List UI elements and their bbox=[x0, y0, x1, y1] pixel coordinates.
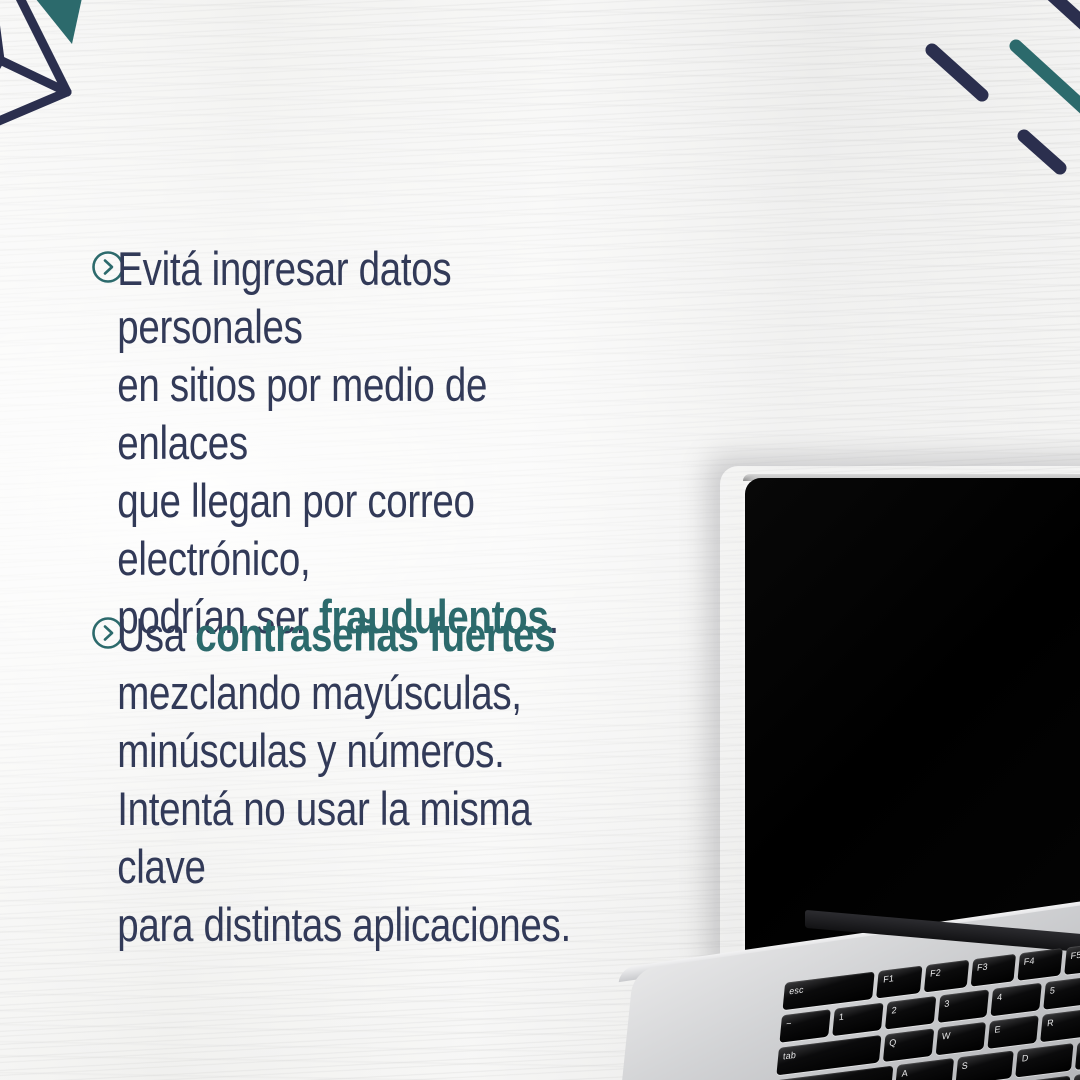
poster-canvas: esc F1 F2 F3 F4 F5 F6 F7 ~ 1 2 3 4 5 6 7… bbox=[0, 0, 1080, 1080]
key-1: 1 bbox=[832, 1003, 883, 1037]
tip-lead-text: Usa bbox=[117, 608, 195, 661]
tip-highlight-text: contraseñas fuertes bbox=[195, 608, 555, 661]
key-4: 4 bbox=[990, 983, 1041, 1017]
key-e: E bbox=[988, 1015, 1039, 1049]
key-q: Q bbox=[883, 1028, 934, 1062]
key-w: W bbox=[935, 1022, 986, 1056]
key-f4: F4 bbox=[1017, 948, 1062, 981]
key-5: 5 bbox=[1043, 976, 1080, 1010]
key-3: 3 bbox=[938, 989, 989, 1023]
key-f: F bbox=[1075, 1035, 1080, 1069]
key-2: 2 bbox=[885, 996, 936, 1030]
tip-lead-text: Evitá ingresar datos personales en sitio… bbox=[117, 242, 487, 643]
key-d: D bbox=[1015, 1043, 1074, 1077]
tip-block-phishing: Evitá ingresar datos personales en sitio… bbox=[0, 240, 720, 646]
key-f1: F1 bbox=[877, 966, 922, 999]
key-f2: F2 bbox=[923, 960, 968, 993]
key-s: S bbox=[955, 1051, 1014, 1080]
tip-block-passwords: Usa contraseñas fuertes mezclando mayúsc… bbox=[0, 606, 720, 954]
laptop-screen bbox=[745, 478, 1080, 978]
key-tilde: ~ bbox=[779, 1009, 830, 1043]
tip-text-phishing: Evitá ingresar datos personales en sitio… bbox=[0, 240, 590, 646]
key-f5: F5 bbox=[1064, 942, 1080, 975]
key-f3: F3 bbox=[970, 954, 1015, 987]
tip-text-passwords: Usa contraseñas fuertes mezclando mayúsc… bbox=[0, 606, 590, 954]
key-a: A bbox=[895, 1058, 954, 1080]
key-r: R bbox=[1041, 1009, 1080, 1043]
tip-tail-text: mezclando mayúsculas, minúsculas y númer… bbox=[117, 666, 571, 951]
